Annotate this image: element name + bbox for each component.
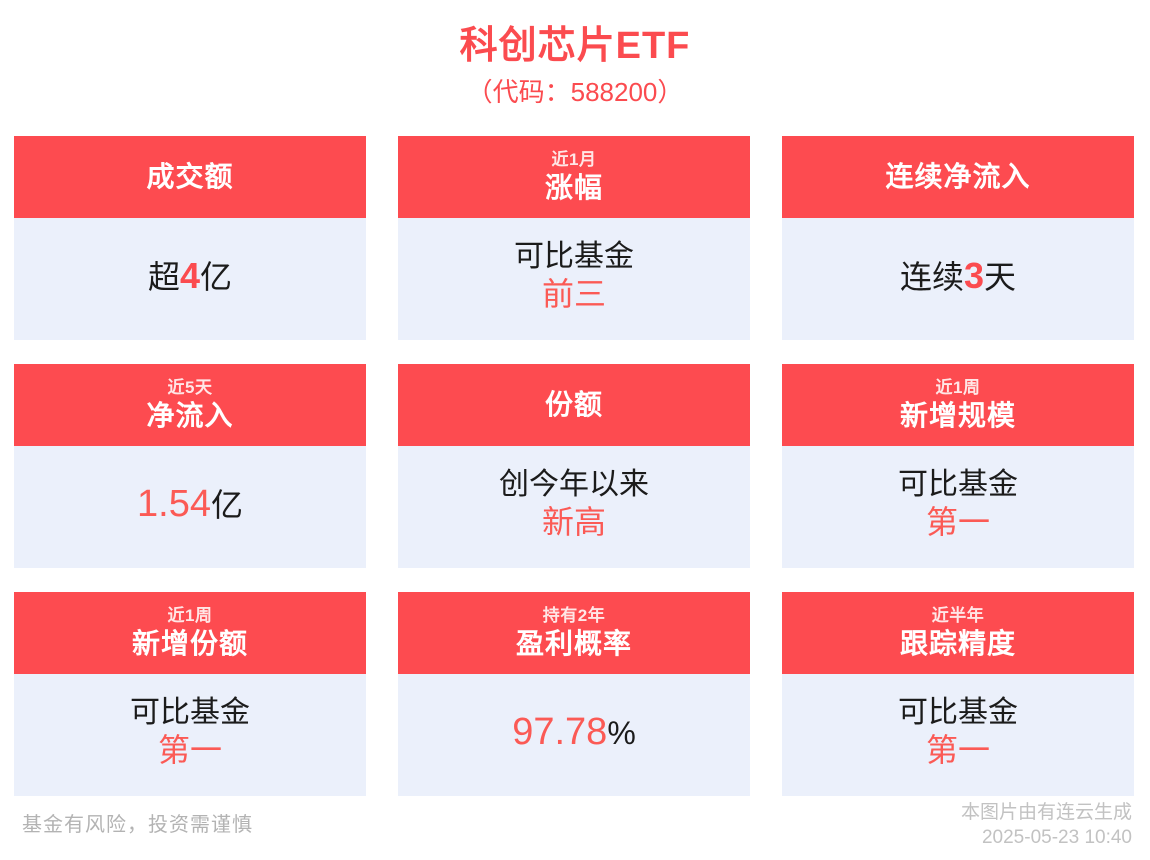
- stat-card[interactable]: 成交额 超4亿: [14, 136, 366, 340]
- stat-card-metric: 跟踪精度: [900, 627, 1016, 661]
- stats-card-grid: 成交额 超4亿 近1月 涨幅 可比基金 前三 连续净流入 连续3天 近5天 净流…: [14, 136, 1136, 796]
- stat-card-metric: 份额: [545, 388, 603, 422]
- page-footer: 基金有风险，投资需谨慎 本图片由有连云生成 2025-05-23 10:40: [0, 788, 1150, 860]
- stat-card-value: 第一: [926, 502, 990, 542]
- page-header: 科创芯片ETF （代码：588200）: [0, 0, 1150, 110]
- stat-card-subtext: 可比基金: [130, 694, 250, 732]
- watermark-timestamp: 2025-05-23 10:40: [961, 825, 1132, 850]
- stat-card-value: 前三: [542, 274, 606, 314]
- stat-card-header: 成交额: [14, 136, 366, 218]
- watermark: 本图片由有连云生成 2025-05-23 10:40: [961, 800, 1132, 850]
- value-suffix: 天: [984, 259, 1016, 295]
- stat-card[interactable]: 近1周 新增份额 可比基金 第一: [14, 592, 366, 796]
- stat-card-body: 创今年以来 新高: [398, 446, 750, 568]
- value-prefix: 超: [148, 259, 180, 295]
- value-number: 4: [180, 255, 200, 296]
- stat-card-period: 近5天: [168, 377, 213, 399]
- stat-card-value: 连续3天: [900, 255, 1016, 298]
- stat-card-header: 近半年 跟踪精度: [782, 592, 1134, 674]
- stat-card-header: 近1月 涨幅: [398, 136, 750, 218]
- stat-card-header: 份额: [398, 364, 750, 446]
- stat-card-metric: 成交额: [146, 160, 233, 194]
- stat-card-header: 近1周 新增份额: [14, 592, 366, 674]
- value-prefix: 连续: [900, 259, 964, 295]
- stat-card[interactable]: 近5天 净流入 1.54亿: [14, 364, 366, 568]
- watermark-source: 本图片由有连云生成: [961, 800, 1132, 825]
- stat-card[interactable]: 持有2年 盈利概率 97.78%: [398, 592, 750, 796]
- stat-card-subtext: 可比基金: [514, 238, 634, 276]
- stat-card-period: 近1周: [168, 605, 213, 627]
- stat-card[interactable]: 份额 创今年以来 新高: [398, 364, 750, 568]
- stat-card[interactable]: 近1周 新增规模 可比基金 第一: [782, 364, 1134, 568]
- stat-card-period: 近1周: [936, 377, 981, 399]
- stat-card-header: 近1周 新增规模: [782, 364, 1134, 446]
- stat-card-value: 第一: [926, 730, 990, 770]
- stat-card-value: 新高: [542, 502, 606, 542]
- stat-card-metric: 连续净流入: [885, 160, 1030, 194]
- stat-card-body: 可比基金 第一: [14, 674, 366, 796]
- stat-card-value: 97.78%: [512, 711, 636, 754]
- value-number: 97.78: [512, 711, 607, 753]
- stat-card-body: 可比基金 第一: [782, 446, 1134, 568]
- stat-card-header: 持有2年 盈利概率: [398, 592, 750, 674]
- stat-card-body: 1.54亿: [14, 446, 366, 568]
- stat-card-body: 连续3天: [782, 218, 1134, 340]
- stat-card-body: 超4亿: [14, 218, 366, 340]
- stat-card-period: 近1月: [552, 149, 597, 171]
- fund-code: （代码：588200）: [0, 74, 1150, 110]
- stat-card-metric: 新增规模: [900, 399, 1016, 433]
- stat-card-header: 近5天 净流入: [14, 364, 366, 446]
- stat-card[interactable]: 近1月 涨幅 可比基金 前三: [398, 136, 750, 340]
- stat-card-metric: 净流入: [146, 399, 233, 433]
- page-title: 科创芯片ETF: [0, 22, 1150, 70]
- stat-card-body: 97.78%: [398, 674, 750, 796]
- stat-card-value: 1.54亿: [137, 483, 243, 526]
- stat-card-subtext: 可比基金: [898, 694, 1018, 732]
- stat-card-body: 可比基金 前三: [398, 218, 750, 340]
- stat-card[interactable]: 连续净流入 连续3天: [782, 136, 1134, 340]
- stat-card-period: 持有2年: [543, 605, 605, 627]
- value-suffix: %: [607, 715, 635, 751]
- value-suffix: 亿: [211, 487, 243, 523]
- risk-disclaimer: 基金有风险，投资需谨慎: [22, 812, 253, 838]
- stat-card-metric: 盈利概率: [516, 627, 632, 661]
- value-number: 1.54: [137, 483, 211, 525]
- stat-card-metric: 新增份额: [132, 627, 248, 661]
- stat-card-subtext: 创今年以来: [499, 466, 649, 504]
- value-suffix: 亿: [200, 259, 232, 295]
- stat-card-period: 近半年: [932, 605, 985, 627]
- stat-card-header: 连续净流入: [782, 136, 1134, 218]
- stat-card-body: 可比基金 第一: [782, 674, 1134, 796]
- stat-card-subtext: 可比基金: [898, 466, 1018, 504]
- stat-card-value: 超4亿: [148, 255, 232, 298]
- stat-card-value: 第一: [158, 730, 222, 770]
- stat-card-metric: 涨幅: [545, 171, 603, 205]
- stat-card[interactable]: 近半年 跟踪精度 可比基金 第一: [782, 592, 1134, 796]
- value-number: 3: [964, 255, 984, 296]
